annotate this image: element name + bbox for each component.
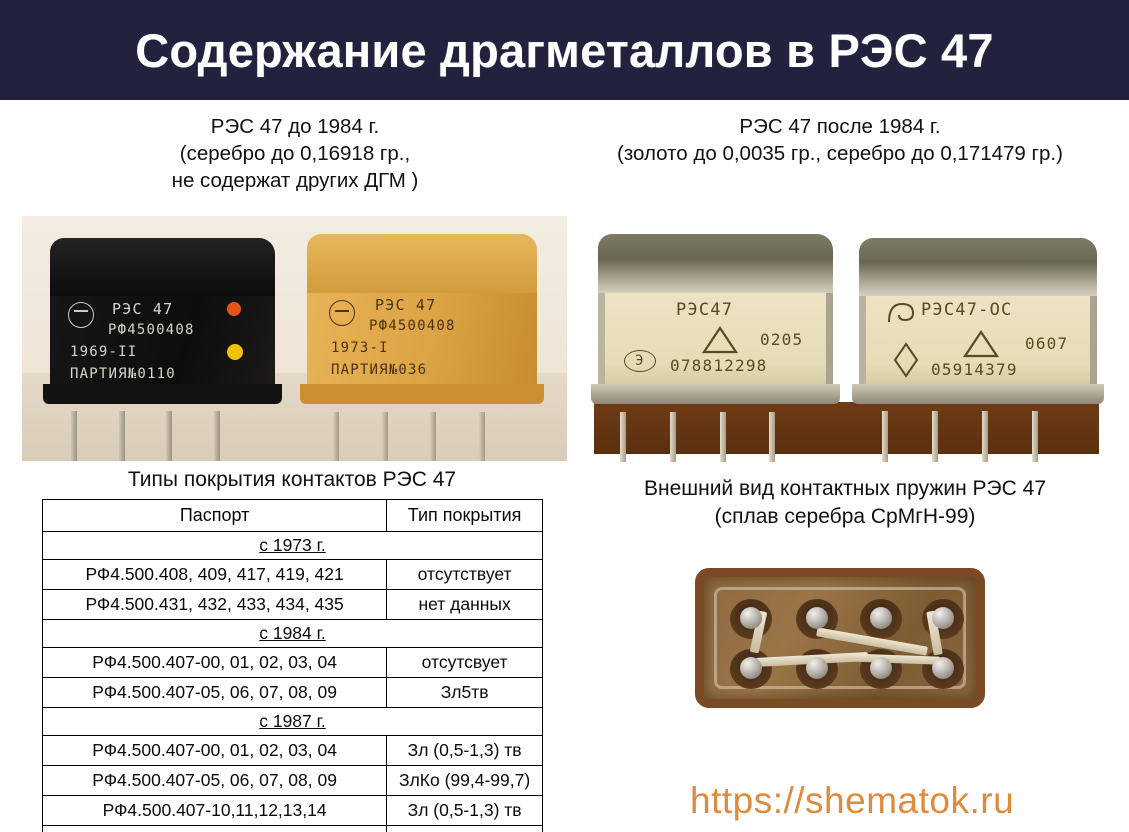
table-section-row: с 1984 г. bbox=[43, 620, 543, 648]
cell-coating: ЗлКо (99,4-99,7) bbox=[387, 766, 543, 796]
coating-table: Паспорт Тип покрытия с 1973 г. РФ4.500.4… bbox=[42, 499, 543, 832]
relay-silver-2-pins bbox=[873, 411, 1082, 462]
table-header-row: Паспорт Тип покрытия bbox=[43, 500, 543, 532]
cell-coating: отсутсвует bbox=[387, 648, 543, 678]
spring-frame bbox=[695, 568, 985, 708]
column-header-coating: Тип покрытия bbox=[387, 500, 543, 532]
caption-pre-1984: РЭС 47 до 1984 г. (серебро до 0,16918 гр… bbox=[45, 113, 545, 194]
cell-coating: Зл (0,5-1,3) тв bbox=[387, 796, 543, 826]
relay-black-face bbox=[50, 296, 275, 393]
slide-root: Содержание драгметаллов в РЭС 47 РЭС 47 … bbox=[0, 0, 1129, 832]
column-header-passport: Паспорт bbox=[43, 500, 387, 532]
caption-pre-1984-line1: РЭС 47 до 1984 г. bbox=[45, 113, 545, 140]
relay-gold-top bbox=[307, 234, 537, 297]
cell-passport: РФ4.500.431, 432, 433, 434, 435 bbox=[43, 590, 387, 620]
spring-caption: Внешний вид контактных пружин РЭС 47 (сп… bbox=[565, 475, 1125, 531]
table-section-row: с 1987 г. bbox=[43, 708, 543, 736]
relay-black-pins bbox=[64, 411, 262, 461]
contact-bead bbox=[870, 607, 892, 629]
relay-silver-2-face bbox=[859, 296, 1097, 393]
cell-passport: РФ4.500.407-05, 06, 07, 08, 09 bbox=[43, 766, 387, 796]
cell-coating: нет данных bbox=[387, 590, 543, 620]
relay-black: РЭС 47 РФ4500408 1969-II ПАРТИЯ№0110 bbox=[50, 238, 275, 418]
caption-pre-1984-line2: (серебро до 0,16918 гр., bbox=[45, 140, 545, 167]
contact-bead bbox=[806, 607, 828, 629]
cell-passport: РФ4.500.408, 409, 417, 419, 421 bbox=[43, 560, 387, 590]
relay-silver-1-face bbox=[598, 293, 833, 393]
marker-dot-orange bbox=[227, 302, 241, 316]
relay-black-top bbox=[50, 238, 275, 299]
table-row: РФ4.500.407-00, 01, 02, 03, 04 Зл (0,5-1… bbox=[43, 736, 543, 766]
cell-coating: отсутствует bbox=[387, 560, 543, 590]
table-row: РФ4.500.407-00, 01, 02, 03, 04 отсутсвуе… bbox=[43, 648, 543, 678]
title-banner: Содержание драгметаллов в РЭС 47 bbox=[0, 0, 1129, 100]
cell-passport: РФ4.500.407-10,11,12,13,14 bbox=[43, 796, 387, 826]
caption-post-1984-line2: (золото до 0,0035 гр., серебро до 0,1714… bbox=[560, 140, 1120, 167]
marker-dot-yellow bbox=[227, 344, 243, 360]
contact-bead bbox=[806, 657, 828, 679]
table-row: РФ4.500.407-15, 21, 22,23,24,25,26 нет д… bbox=[43, 826, 543, 832]
relay-photo-post-1984: РЭС47 0205 Э 078812298 bbox=[576, 212, 1124, 462]
table-row: РФ4.500.407-05, 06, 07, 08, 09 ЗлКо (99,… bbox=[43, 766, 543, 796]
section-label: с 1984 г. bbox=[259, 623, 326, 643]
table-title: Типы покрытия контактов РЭС 47 bbox=[42, 468, 542, 492]
cell-coating: Зл5тв bbox=[387, 678, 543, 708]
page-title: Содержание драгметаллов в РЭС 47 bbox=[135, 23, 993, 78]
relay-silver-1-pins bbox=[612, 412, 819, 462]
cell-passport: РФ4.500.407-00, 01, 02, 03, 04 bbox=[43, 736, 387, 766]
table-row: РФ4.500.431, 432, 433, 434, 435 нет данн… bbox=[43, 590, 543, 620]
table-row: РФ4.500.407-05, 06, 07, 08, 09 Зл5тв bbox=[43, 678, 543, 708]
cell-passport: РФ4.500.407-05, 06, 07, 08, 09 bbox=[43, 678, 387, 708]
section-label: с 1973 г. bbox=[259, 535, 326, 555]
table-section-row: с 1973 г. bbox=[43, 532, 543, 560]
contact-bead bbox=[870, 657, 892, 679]
section-label: с 1987 г. bbox=[259, 711, 326, 731]
table-row: РФ4.500.407-10,11,12,13,14 Зл (0,5-1,3) … bbox=[43, 796, 543, 826]
cell-coating: Зл (0,5-1,3) тв bbox=[387, 736, 543, 766]
caption-pre-1984-line3: не содержат других ДГМ ) bbox=[45, 167, 545, 194]
relay-silver-2-lip bbox=[852, 384, 1104, 404]
relay-gold-pins bbox=[321, 412, 523, 461]
cell-passport: РФ4.500.407-00, 01, 02, 03, 04 bbox=[43, 648, 387, 678]
section-label-cell: с 1984 г. bbox=[43, 620, 543, 648]
relay-gold-face bbox=[307, 293, 537, 393]
relay-silver-2-top bbox=[859, 238, 1097, 299]
relay-photo-pre-1984: РЭС 47 РФ4500408 1969-II ПАРТИЯ№0110 bbox=[22, 216, 567, 461]
cell-coating: нет данных bbox=[387, 826, 543, 832]
contact-bead bbox=[740, 657, 762, 679]
contact-bead bbox=[932, 657, 954, 679]
relay-silver-1-lip bbox=[591, 384, 840, 404]
site-url-watermark[interactable]: https://shematok.ru bbox=[690, 780, 1014, 822]
relay-silver-2: РЭС47-ОС 0607 05914379 bbox=[859, 238, 1097, 418]
relay-silver-1-top bbox=[598, 234, 833, 297]
relay-gold: РЭС 47 РФ4500408 1973-I ПАРТИЯ№036 bbox=[307, 234, 537, 419]
cell-passport: РФ4.500.407-15, 21, 22,23,24,25,26 bbox=[43, 826, 387, 832]
section-label-cell: с 1987 г. bbox=[43, 708, 543, 736]
caption-post-1984-line1: РЭС 47 после 1984 г. bbox=[560, 113, 1120, 140]
relay-black-lip bbox=[43, 384, 282, 404]
table-row: РФ4.500.408, 409, 417, 419, 421 отсутств… bbox=[43, 560, 543, 590]
spring-caption-line1: Внешний вид контактных пружин РЭС 47 bbox=[565, 475, 1125, 503]
relay-gold-lip bbox=[300, 384, 544, 404]
contact-bead bbox=[740, 607, 762, 629]
contact-bead bbox=[932, 607, 954, 629]
caption-post-1984: РЭС 47 после 1984 г. (золото до 0,0035 г… bbox=[560, 113, 1120, 167]
section-label-cell: с 1973 г. bbox=[43, 532, 543, 560]
spring-caption-line2: (сплав серебра СрМгН-99) bbox=[565, 503, 1125, 531]
relay-silver-1: РЭС47 0205 Э 078812298 bbox=[598, 234, 833, 419]
contact-spring-photo bbox=[695, 568, 985, 708]
